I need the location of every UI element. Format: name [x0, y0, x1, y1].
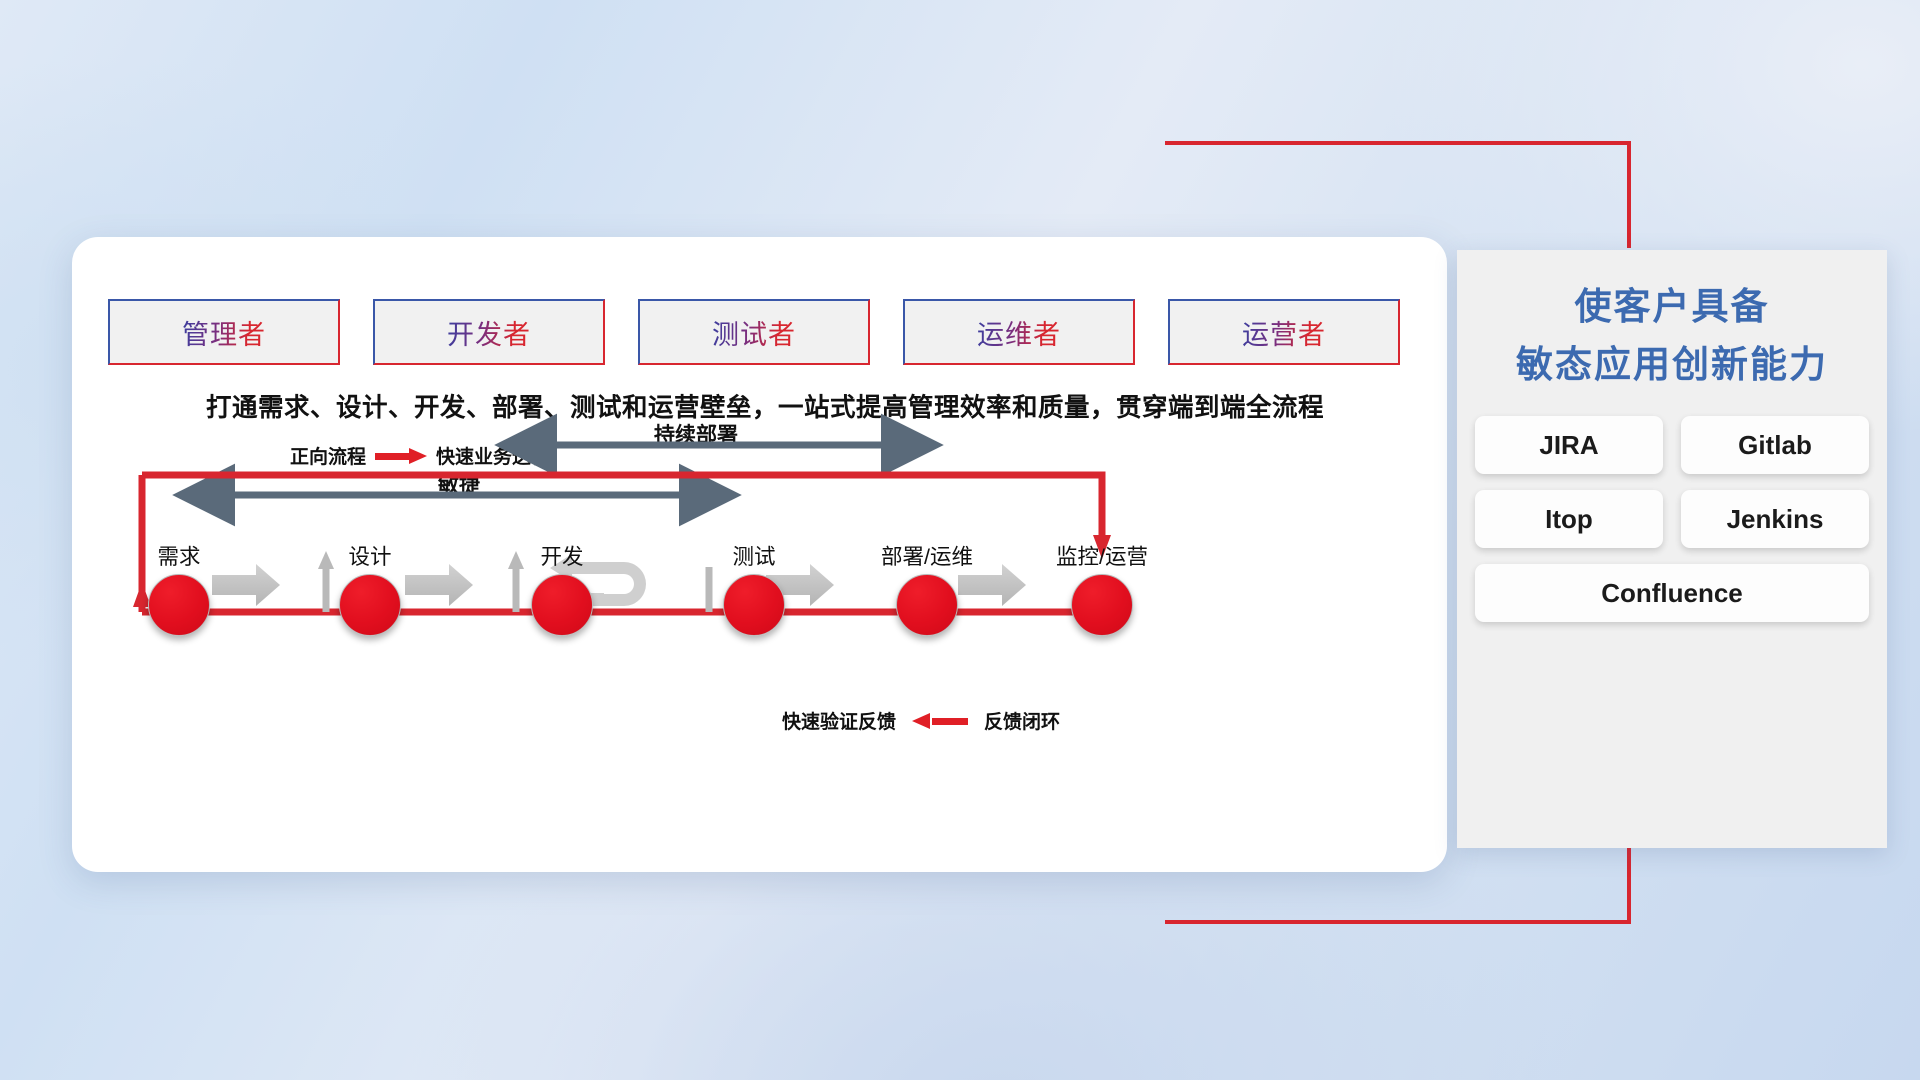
- arrow-right-red-icon: [375, 448, 427, 464]
- role-box-ops[interactable]: 运维者: [903, 299, 1135, 365]
- legend-forward-label: 正向流程: [290, 442, 366, 469]
- role-box-list: 管理者 开发者 测试者 运维者 运营者: [108, 299, 1400, 365]
- slide-canvas: 管理者 开发者 测试者 运维者 运营者 打通需求、设计、开发、部署、测试和运营壁…: [0, 0, 1920, 1080]
- legend-forward-flow: 正向流程 快速业务迭代: [290, 442, 550, 469]
- stage-dot-icon: [339, 574, 401, 636]
- stage-dot-icon: [531, 574, 593, 636]
- tool-chip-jira[interactable]: JIRA: [1475, 416, 1663, 474]
- stage-dot-icon: [148, 574, 210, 636]
- role-label: 运营者: [1242, 313, 1326, 352]
- panel-title: 使客户具备 敏态应用创新能力: [1457, 278, 1887, 394]
- headline-text: 打通需求、设计、开发、部署、测试和运营壁垒，一站式提高管理效率和质量，贯穿端到端…: [120, 387, 1410, 424]
- stage-node-develop[interactable]: 开发: [502, 540, 622, 636]
- legend-feedback-label: 反馈闭环: [984, 707, 1060, 734]
- panel-title-line2: 敏态应用创新能力: [1457, 336, 1887, 394]
- legend-feedback-loop: 快速验证反馈 反馈闭环: [782, 707, 1060, 734]
- role-box-operations[interactable]: 运营者: [1168, 299, 1400, 365]
- panel-title-line1: 使客户具备: [1457, 278, 1887, 336]
- arrow-left-red-icon: [912, 713, 968, 729]
- stage-dot-icon: [723, 574, 785, 636]
- stage-label: 部署/运维: [842, 540, 1012, 571]
- stage-node-design[interactable]: 设计: [310, 540, 430, 636]
- role-label: 运维者: [977, 313, 1061, 352]
- role-box-tester[interactable]: 测试者: [638, 299, 870, 365]
- span-label-agile: 敏捷: [438, 469, 480, 499]
- stage-node-deploy-ops[interactable]: 部署/运维: [842, 540, 1012, 636]
- stage-node-test[interactable]: 测试: [694, 540, 814, 636]
- stage-dot-icon: [1071, 574, 1133, 636]
- tool-chip-confluence[interactable]: Confluence: [1475, 564, 1869, 622]
- stage-label: 开发: [502, 540, 622, 571]
- tool-chip-jenkins[interactable]: Jenkins: [1681, 490, 1869, 548]
- tool-chip-list: JIRA Gitlab Itop Jenkins Confluence: [1475, 416, 1869, 622]
- stage-node-requirement[interactable]: 需求: [119, 540, 239, 636]
- role-box-manager[interactable]: 管理者: [108, 299, 340, 365]
- stage-label: 测试: [694, 540, 814, 571]
- tool-chip-itop[interactable]: Itop: [1475, 490, 1663, 548]
- stage-label: 需求: [119, 540, 239, 571]
- stage-node-monitor-operations[interactable]: 监控/运营: [1017, 540, 1187, 636]
- legend-forward-result: 快速业务迭代: [436, 442, 550, 469]
- capability-panel: 使客户具备 敏态应用创新能力 JIRA Gitlab Itop Jenkins …: [1457, 250, 1887, 848]
- role-label: 开发者: [447, 313, 531, 352]
- stage-dot-icon: [896, 574, 958, 636]
- role-label: 测试者: [712, 313, 796, 352]
- stage-label: 监控/运营: [1017, 540, 1187, 571]
- span-label-continuous-deployment: 持续部署: [654, 419, 738, 449]
- legend-feedback-result: 快速验证反馈: [782, 707, 896, 734]
- tool-chip-gitlab[interactable]: Gitlab: [1681, 416, 1869, 474]
- stage-label: 设计: [310, 540, 430, 571]
- main-card: 管理者 开发者 测试者 运维者 运营者 打通需求、设计、开发、部署、测试和运营壁…: [72, 237, 1447, 872]
- role-box-developer[interactable]: 开发者: [373, 299, 605, 365]
- role-label: 管理者: [182, 313, 266, 352]
